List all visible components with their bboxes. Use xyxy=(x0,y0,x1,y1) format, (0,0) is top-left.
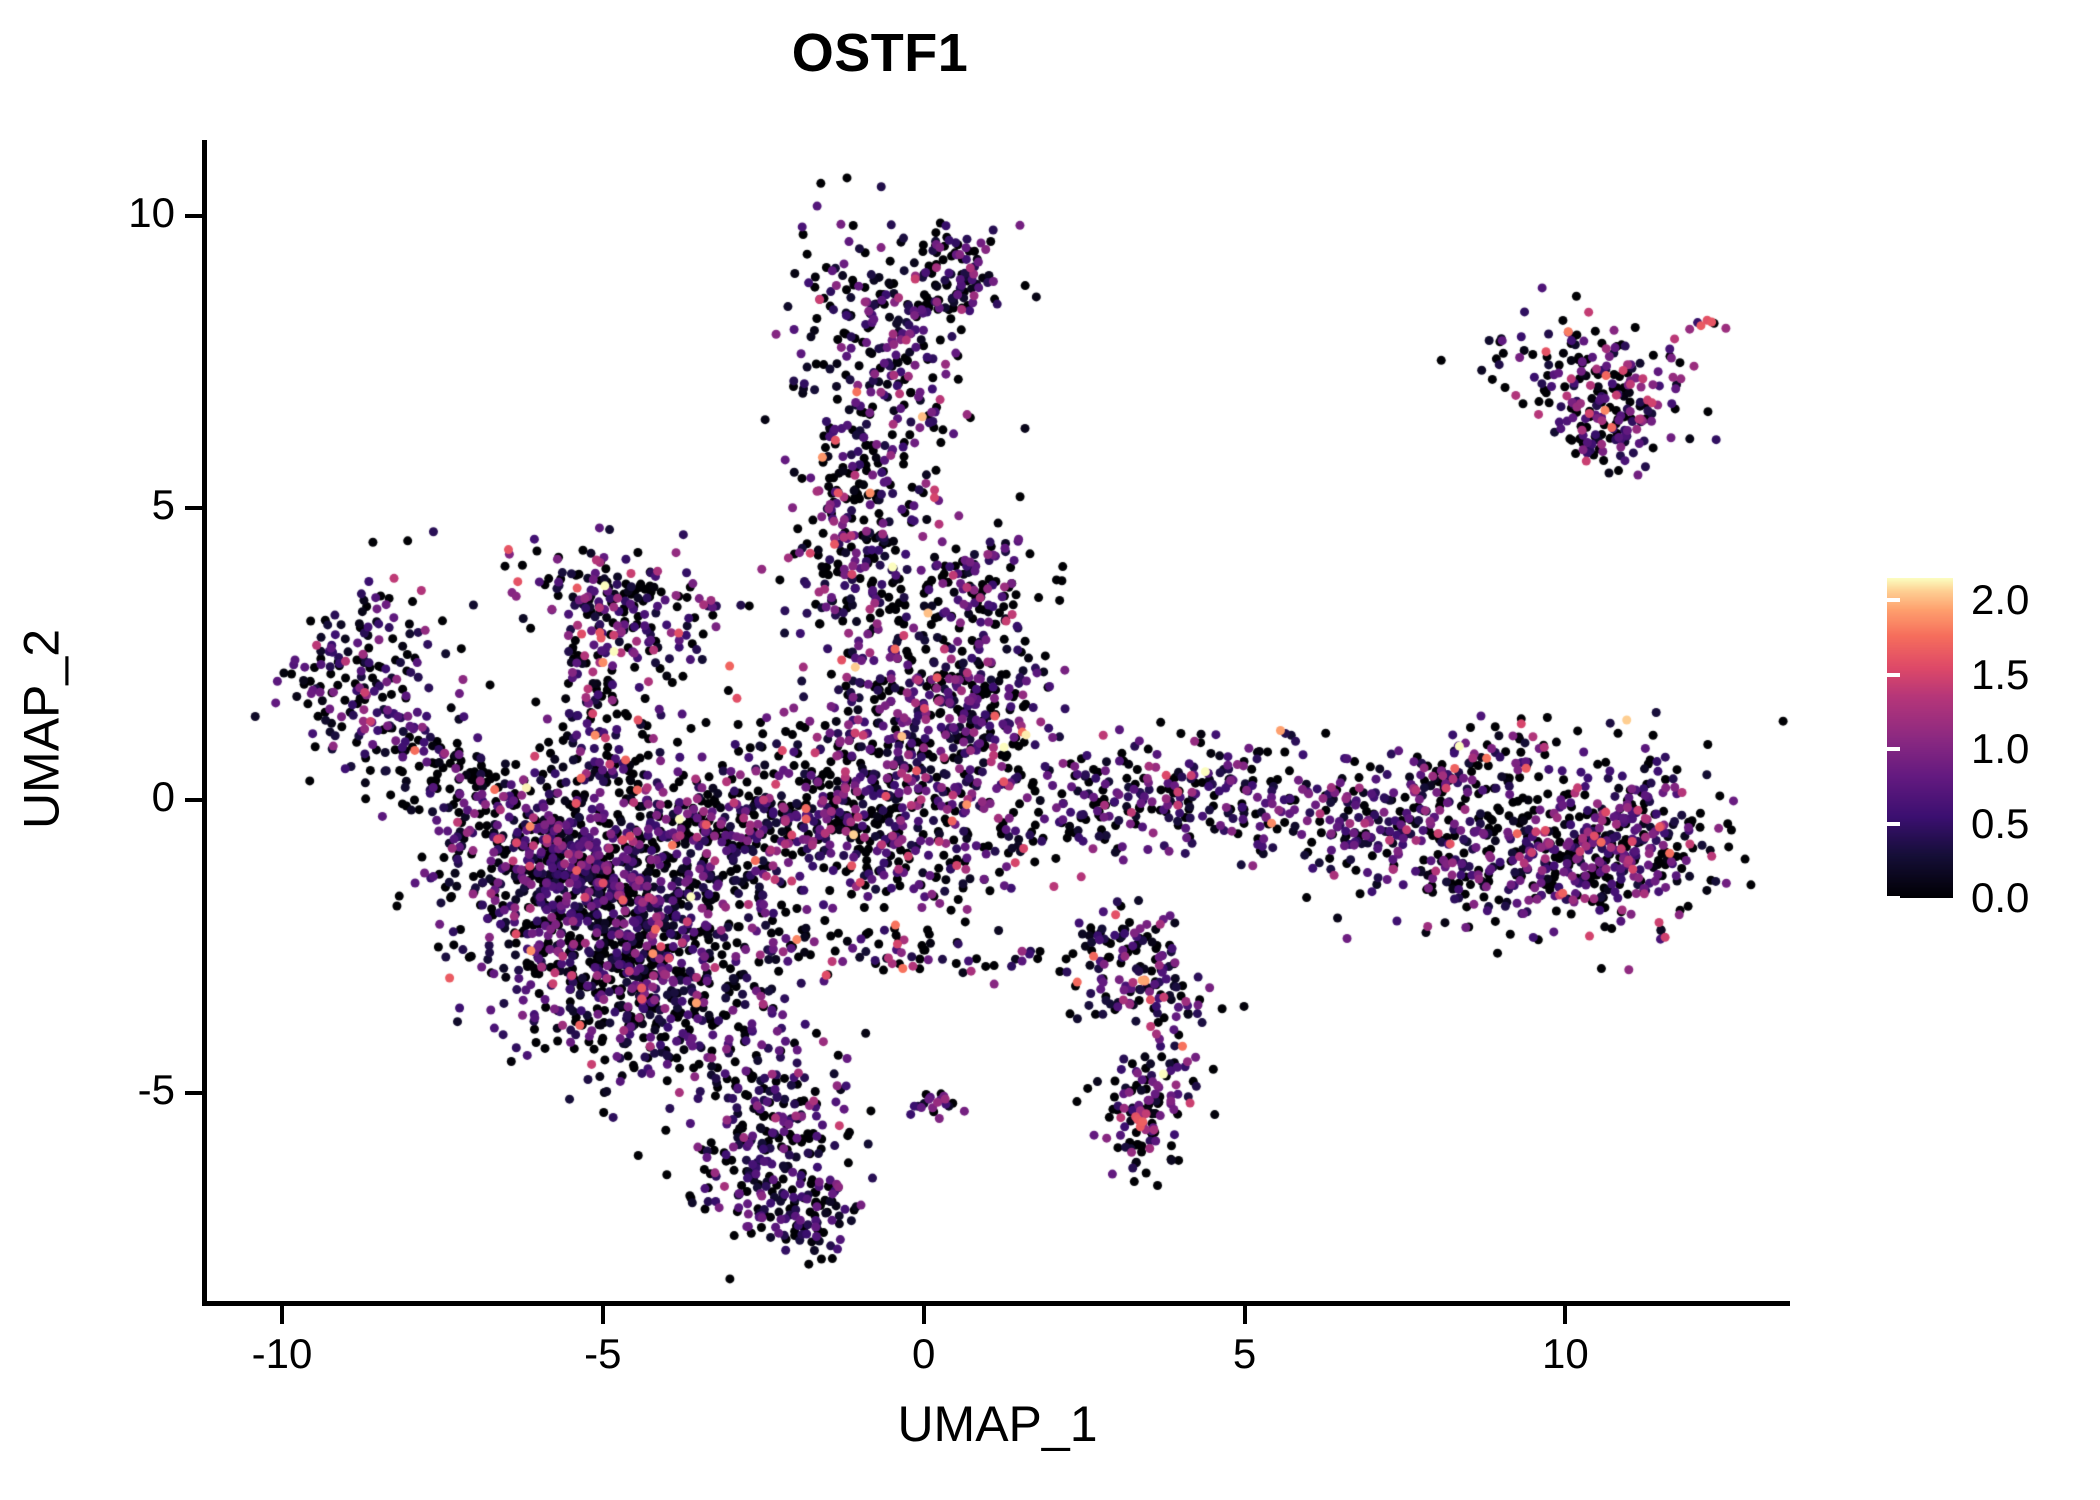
x-axis-tick-label: 10 xyxy=(1485,1330,1645,1378)
x-axis-tick xyxy=(280,1306,284,1324)
page-title: OSTF1 xyxy=(0,22,1760,84)
colorbar-tick-mark xyxy=(1887,598,1900,602)
y-axis-tick xyxy=(185,506,203,510)
y-axis-title: UMAP_2 xyxy=(13,148,71,1311)
colorbar-tick-mark xyxy=(1887,673,1900,677)
colorbar-tick-label: 0.0 xyxy=(1971,874,2029,922)
figure-root: OSTF1 -50510 -10-50510 UMAP_1 UMAP_2 0.0… xyxy=(0,0,2100,1500)
y-axis-line xyxy=(202,140,207,1306)
colorbar-gradient xyxy=(1887,578,1953,898)
y-axis-tick xyxy=(185,798,203,802)
y-axis-tick xyxy=(185,214,203,218)
colorbar-tick-mark xyxy=(2084,747,2097,751)
colorbar-tick-label: 2.0 xyxy=(1971,576,2029,624)
x-axis-line xyxy=(202,1301,1790,1306)
x-axis-tick-label: -5 xyxy=(523,1330,683,1378)
y-axis-tick xyxy=(185,1091,203,1095)
colorbar-tick-mark xyxy=(2084,673,2097,677)
colorbar-tick-mark xyxy=(1887,747,1900,751)
colorbar-tick-mark xyxy=(2084,598,2097,602)
colorbar-tick-mark xyxy=(1887,822,1900,826)
x-axis-tick xyxy=(601,1306,605,1324)
scatter-plot-panel xyxy=(205,140,1790,1303)
colorbar-tick-mark xyxy=(1887,896,1900,900)
colorbar-tick-mark xyxy=(2084,822,2097,826)
colorbar-tick-mark xyxy=(2084,896,2097,900)
x-axis-tick-label: 5 xyxy=(1165,1330,1325,1378)
scatter-points-layer xyxy=(205,140,1790,1303)
x-axis-tick-label: -10 xyxy=(202,1330,362,1378)
x-axis-tick xyxy=(922,1306,926,1324)
x-axis-tick xyxy=(1243,1306,1247,1324)
colorbar-legend: 0.00.51.01.52.0 xyxy=(1887,578,2097,900)
colorbar-tick-label: 1.5 xyxy=(1971,651,2029,699)
colorbar-tick-label: 1.0 xyxy=(1971,725,2029,773)
colorbar-tick-label: 0.5 xyxy=(1971,800,2029,848)
x-axis-tick-label: 0 xyxy=(844,1330,1004,1378)
x-axis-title: UMAP_1 xyxy=(205,1395,1790,1453)
x-axis-tick xyxy=(1563,1306,1567,1324)
